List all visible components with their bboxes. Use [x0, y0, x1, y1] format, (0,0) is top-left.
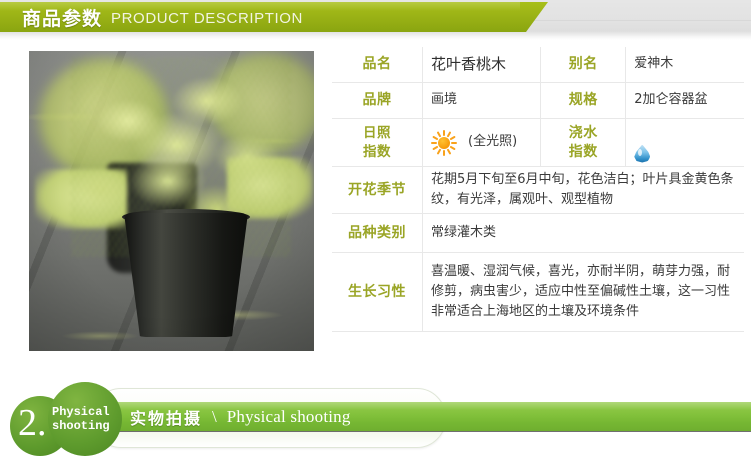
sun-ray — [431, 142, 437, 144]
page-title-en: PRODUCT DESCRIPTION — [111, 10, 303, 27]
table-row: 日照 指数 — [332, 119, 744, 167]
spec-value-alias: 爱神木 — [626, 47, 744, 83]
spec-label-growth-habit: 生长习性 — [332, 253, 423, 332]
table-row: 开花季节 花期5月下旬至6月中旬，花色洁白；叶片具金黄色条纹，有光泽，属观叶、观… — [332, 167, 744, 214]
spec-label-sunlight-line1: 日照 — [340, 124, 414, 142]
sun-ray — [437, 148, 441, 154]
sun-ray — [450, 145, 456, 149]
sun-ray — [433, 145, 439, 149]
page-title: 商品参数 PRODUCT DESCRIPTION — [22, 3, 303, 31]
banner-title-en: Physical shooting — [227, 407, 351, 427]
sun-icon — [431, 130, 457, 156]
sun-ray — [447, 148, 451, 154]
sun-ray — [443, 130, 445, 136]
banner-strip-underline — [118, 431, 751, 432]
specification-table: 品名 花叶香桃木 别名 爱神木 品牌 画境 规格 2加仑容器盆 日照 指数 — [332, 47, 744, 332]
water-drop-highlight — [638, 149, 642, 156]
table-row: 品种类别 常绿灌木类 — [332, 214, 744, 253]
photo-vignette — [29, 51, 314, 351]
badge-label-line1: Physical — [52, 406, 110, 420]
spec-label-watering-line2: 指数 — [549, 143, 617, 162]
spec-label-flowering-season: 开花季节 — [332, 167, 423, 214]
spec-value-variety-category: 常绿灌木类 — [423, 214, 745, 253]
spec-label-watering-index: 浇水 指数 — [541, 119, 626, 167]
spec-label-specification: 规格 — [541, 83, 626, 119]
spec-label-product-name: 品名 — [332, 47, 423, 83]
spec-label-alias: 别名 — [541, 47, 626, 83]
spec-value-watering-index — [626, 119, 744, 167]
banner-title: 实物拍摄 \ Physical shooting — [130, 402, 351, 431]
spec-value-growth-habit: 喜温暖、湿润气候，喜光，亦耐半阴，萌芽力强，耐修剪，病虫害少，适应中性至偏碱性土… — [423, 253, 745, 332]
sun-ray — [447, 131, 451, 137]
spec-label-sunlight-index: 日照 指数 — [332, 119, 423, 167]
badge-label: Physical shooting — [52, 406, 110, 434]
product-photo — [29, 51, 314, 351]
spec-value-flowering-season: 花期5月下旬至6月中旬，花色洁白；叶片具金黄色条纹，有光泽，属观叶、观型植物 — [423, 167, 745, 214]
page-title-cn: 商品参数 — [22, 4, 102, 31]
table-row: 生长习性 喜温暖、湿润气候，喜光，亦耐半阴，萌芽力强，耐修剪，病虫害少，适应中性… — [332, 253, 744, 332]
sun-ray — [437, 131, 441, 137]
sun-ray — [450, 135, 456, 139]
spec-label-sunlight-line2: 指数 — [340, 143, 414, 161]
sun-ray — [432, 135, 438, 139]
table-row: 品名 花叶香桃木 别名 爱神木 — [332, 47, 744, 83]
spec-value-sunlight-text: (全光照) — [468, 132, 517, 152]
water-drop-body — [634, 145, 650, 163]
badge-number: 2. — [18, 404, 47, 442]
spec-label-watering-line1: 浇水 — [549, 124, 617, 143]
sun-ray — [444, 150, 446, 156]
spec-value-specification: 2加仑容器盆 — [626, 83, 744, 119]
sun-ray — [451, 142, 457, 144]
section-number-badge: 2. Physical shooting — [10, 382, 122, 456]
spec-label-variety-category: 品种类别 — [332, 214, 423, 253]
table-row: 品牌 画境 规格 2加仑容器盆 — [332, 83, 744, 119]
spec-label-brand: 品牌 — [332, 83, 423, 119]
sun-disc — [438, 137, 450, 149]
badge-label-line2: shooting — [52, 420, 110, 434]
banner-title-cn: 实物拍摄 — [130, 405, 202, 429]
spec-value-brand: 画境 — [423, 83, 541, 119]
section-banner: 实物拍摄 \ Physical shooting 2. Physical sho… — [0, 380, 751, 456]
banner-separator: \ — [212, 407, 217, 427]
page-header: 商品参数 PRODUCT DESCRIPTION — [0, 0, 751, 40]
spec-value-product-name: 花叶香桃木 — [423, 47, 541, 83]
spec-value-sunlight-index: (全光照) — [423, 119, 541, 167]
